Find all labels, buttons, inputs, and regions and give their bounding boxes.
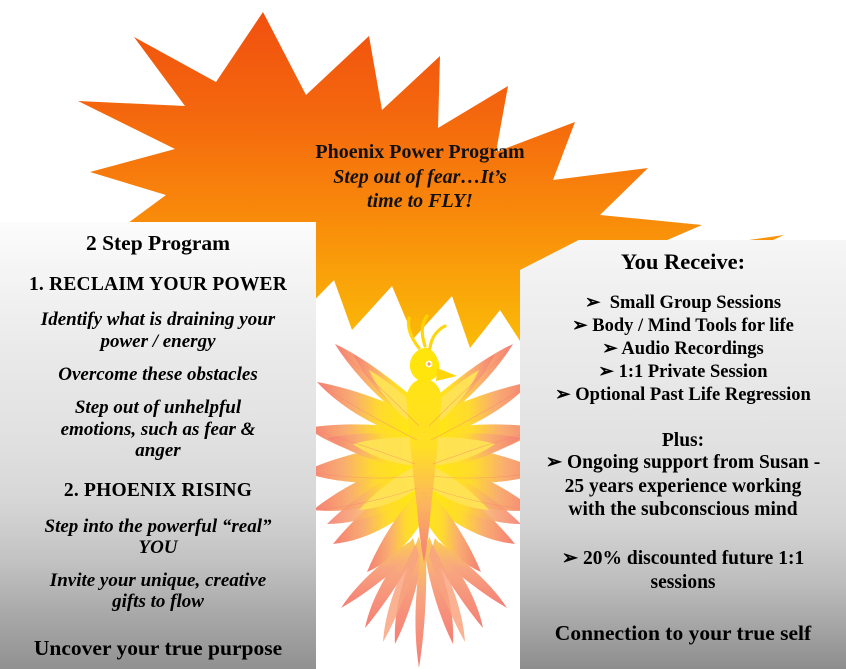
step-1-item-2: Overcome these obstacles [4, 364, 312, 385]
receive-item-5: ➢ Optional Past Life Regression [523, 384, 843, 407]
bullet-arrow-icon: ➢ [572, 316, 588, 336]
step-1-item-1-line-1: Identify what is draining your [4, 309, 312, 330]
receive-item-1-label: Small Group Sessions [610, 293, 781, 313]
step-2-item-1-line-2: YOU [4, 537, 312, 558]
bullet-arrow-icon: ➢ [562, 548, 578, 569]
step-1-item-2-line-1: Overcome these obstacles [4, 364, 312, 385]
bullet-arrow-icon: ➢ [555, 385, 571, 405]
receive-item-4: ➢ 1:1 Private Session [523, 361, 843, 384]
plus-item: ➢ Ongoing support from Susan - 25 years … [523, 451, 843, 521]
step-1-item-3-line-2: emotions, such as fear & [4, 419, 312, 440]
receive-item-3: ➢ Audio Recordings [523, 338, 843, 361]
step-2-item-1: Step into the powerful “real” YOU [4, 516, 312, 559]
receive-item-2: ➢ Body / Mind Tools for life [523, 315, 843, 338]
bullet-arrow-icon: ➢ [546, 452, 562, 473]
left-panel-title: 2 Step Program [4, 232, 312, 255]
right-panel-title: You Receive: [523, 250, 843, 274]
plus-item-line-1-label: Ongoing support from Susan - [567, 452, 820, 473]
left-panel-footer: Uncover your true purpose [4, 637, 312, 660]
plus-heading: Plus: [523, 431, 843, 452]
program-title: Phoenix Power Program [200, 141, 640, 165]
receive-item-2-label: Body / Mind Tools for life [592, 316, 794, 336]
bullet-arrow-icon: ➢ [585, 293, 601, 313]
step-1-item-3: Step out of unhelpful emotions, such as … [4, 397, 312, 461]
receive-item-5-label: Optional Past Life Regression [575, 385, 811, 405]
step-1-item-3-line-3: anger [4, 440, 312, 461]
step-1-heading: 1. RECLAIM YOUR POWER [4, 275, 312, 296]
step-2-item-1-line-1: Step into the powerful “real” [4, 516, 312, 537]
discount-line-2: sessions [523, 571, 843, 594]
left-panel: 2 Step Program 1. RECLAIM YOUR POWER Ide… [0, 222, 316, 669]
step-1-item-3-line-1: Step out of unhelpful [4, 397, 312, 418]
right-panel-footer: Connection to your true self [523, 622, 843, 645]
bullet-arrow-icon: ➢ [598, 362, 614, 382]
receive-item-4-label: 1:1 Private Session [619, 362, 768, 382]
step-2-item-2-line-2: gifts to flow [4, 591, 312, 612]
receive-list: ➢ Small Group Sessions ➢ Body / Mind Too… [523, 292, 843, 407]
step-2-item-2-line-1: Invite your unique, creative [4, 570, 312, 591]
right-panel: You Receive: ➢ Small Group Sessions ➢ Bo… [520, 240, 846, 669]
program-tagline-line2: time to FLY! [200, 189, 640, 213]
discount-item: ➢ 20% discounted future 1:1 sessions [523, 547, 843, 594]
plus-item-line-2: 25 years experience working [523, 475, 843, 498]
bullet-arrow-icon: ➢ [602, 339, 618, 359]
receive-item-3-label: Audio Recordings [621, 339, 763, 359]
plus-item-line-3: with the subconscious mind [523, 498, 843, 521]
burst-title-block: Phoenix Power Program Step out of fear…I… [200, 141, 640, 213]
step-1-item-1: Identify what is draining your power / e… [4, 309, 312, 352]
step-1-item-1-line-2: power / energy [4, 331, 312, 352]
step-2-item-2: Invite your unique, creative gifts to fl… [4, 570, 312, 613]
program-tagline-line1: Step out of fear…It’s [200, 165, 640, 189]
step-2-heading: 2. PHOENIX RISING [4, 481, 312, 502]
receive-item-1: ➢ Small Group Sessions [523, 292, 843, 315]
discount-line-1-label: 20% discounted future 1:1 [583, 548, 804, 569]
poster-canvas: Phoenix Power Program Step out of fear…I… [0, 0, 846, 669]
plus-item-line-1: ➢ Ongoing support from Susan - [523, 451, 843, 474]
discount-line-1: ➢ 20% discounted future 1:1 [523, 547, 843, 570]
